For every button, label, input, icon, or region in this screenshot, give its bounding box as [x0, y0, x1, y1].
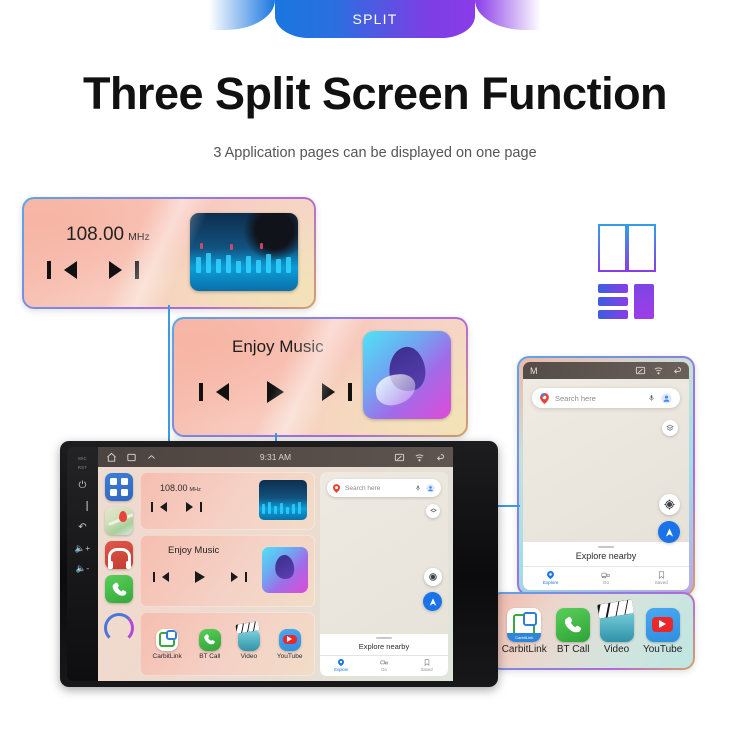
nav-label-saved: Saved [421, 667, 433, 672]
app-label-bt-call: BT Call [199, 653, 220, 660]
skip-previous-icon[interactable] [160, 502, 167, 512]
navigate-icon[interactable] [423, 592, 442, 611]
music-controls [216, 381, 335, 403]
radio-thumbnail-image [190, 213, 298, 291]
pane-explore-nearby-title[interactable]: Explore nearby [320, 642, 448, 655]
chevron-up-icon[interactable] [146, 452, 157, 463]
microphone-icon[interactable] [415, 484, 421, 492]
map-pin-icon [547, 571, 554, 579]
recents-icon[interactable] [126, 452, 137, 463]
map-callout-card: M Search here [517, 356, 695, 596]
nav-label-go: Go [603, 580, 609, 585]
skip-next-icon[interactable] [322, 383, 335, 401]
pane-map-bottom-nav: Explore Go Saved [320, 655, 448, 677]
radio-frequency-value: 108.00 [66, 224, 124, 245]
carbitlink-icon: CarbitLink [507, 608, 541, 642]
home-icon[interactable]: ⎹ [78, 502, 88, 512]
nav-item-go[interactable]: Go [363, 659, 406, 673]
radio-frequency: 108.00MHz [66, 224, 150, 246]
nav-label-saved: Saved [655, 580, 668, 585]
phone-icon [199, 629, 221, 651]
locate-me-icon[interactable] [659, 494, 680, 515]
home-icon[interactable] [106, 452, 117, 463]
locate-me-icon[interactable] [424, 568, 442, 586]
pane-map-bottom-sheet: Explore nearby Explore Go [320, 634, 448, 676]
wifi-icon[interactable] [414, 452, 425, 463]
maps-pin-icon [540, 393, 549, 404]
navigate-icon[interactable] [658, 521, 680, 543]
pane-music-album-art [262, 547, 308, 593]
headphones-icon [108, 548, 131, 562]
back-icon[interactable] [671, 365, 682, 376]
skip-previous-icon[interactable] [162, 572, 169, 582]
carbitlink-icon [156, 629, 178, 651]
pane-music[interactable]: Enjoy Music [140, 535, 315, 607]
back-icon[interactable]: ↶ [78, 523, 86, 533]
two-pane-layout-icon [598, 224, 654, 270]
bookmark-icon [424, 659, 430, 666]
split-banner: SPLIT [275, 0, 475, 38]
radio-callout-card: 108.00MHz [22, 197, 316, 309]
app-carbitlink[interactable]: CarbitLink [153, 629, 182, 660]
map-app-screen: M Search here [523, 362, 689, 590]
skip-previous-icon[interactable] [64, 261, 77, 279]
account-avatar-icon[interactable] [426, 484, 435, 493]
microphone-icon[interactable] [648, 393, 655, 403]
app-label-youtube: YouTube [643, 644, 682, 655]
map-search-placeholder: Search here [555, 394, 642, 403]
pane-map-canvas[interactable]: Search here [320, 472, 448, 634]
app-label-video: Video [604, 644, 629, 655]
mic-label: MIC [78, 456, 87, 461]
sheet-grab-handle[interactable] [598, 546, 614, 548]
bookmark-icon [658, 571, 665, 579]
music-callout-card: Enjoy Music [172, 317, 468, 437]
layers-icon[interactable] [426, 504, 440, 518]
back-icon[interactable] [434, 452, 445, 463]
skip-next-icon[interactable] [231, 572, 238, 582]
pane-map[interactable]: Search here [320, 472, 448, 676]
nav-item-saved[interactable]: Saved [405, 659, 448, 673]
app-youtube[interactable]: YouTube [643, 608, 682, 655]
reset-label: RST [78, 465, 87, 470]
maps-pin-icon [333, 484, 340, 493]
skip-next-icon[interactable] [109, 261, 122, 279]
sidebar-item-apps[interactable] [105, 473, 133, 501]
power-icon[interactable]: ⏻ [79, 481, 87, 491]
youtube-icon [279, 629, 301, 651]
map-search-bar[interactable]: Search here [532, 388, 680, 408]
pane-radio-controls [160, 502, 193, 512]
app-video[interactable]: Video [600, 608, 634, 655]
page-root: SPLIT Three Split Screen Function 3 Appl… [0, 0, 750, 750]
play-icon[interactable] [195, 571, 205, 583]
map-bottom-nav: Explore Go Saved [523, 566, 689, 591]
pane-music-controls [162, 571, 238, 583]
wifi-icon[interactable] [653, 365, 664, 376]
app-label-carbitlink: CarbitLink [153, 653, 182, 660]
nav-item-saved[interactable]: Saved [634, 571, 689, 586]
carbitlink-tag: CarbitLink [507, 633, 541, 642]
phone-icon [111, 581, 128, 598]
pane-radio-frequency: 108.00MHz [160, 483, 201, 493]
layout-indicator-group [598, 224, 658, 324]
video-clapperboard-icon [238, 629, 260, 651]
play-icon[interactable] [267, 381, 284, 403]
radio-frequency-unit: MHz [128, 231, 150, 243]
app-video[interactable]: Video [238, 629, 260, 660]
nav-label-go: Go [381, 667, 387, 672]
nav-item-go[interactable]: Go [578, 571, 633, 586]
music-title: Enjoy Music [232, 337, 324, 357]
screen-status-bar: 9:31 AM [98, 447, 453, 467]
map-bottom-sheet: Explore nearby Explore Go Saved [523, 542, 689, 590]
commute-icon [601, 571, 610, 579]
apps-grid-icon [110, 478, 128, 496]
video-clapperboard-icon [600, 608, 634, 642]
volume-up-icon[interactable]: 🔈+ [75, 544, 91, 553]
loading-spinner-icon [104, 613, 134, 643]
banner-wing-left [209, 0, 275, 30]
pane-radio-unit: MHz [190, 487, 201, 493]
commute-icon [380, 659, 388, 666]
app-carbitlink[interactable]: CarbitLink CarbitLink [502, 608, 547, 655]
app-label-video: Video [241, 653, 258, 660]
pane-dock: CarbitLink BT Call [140, 612, 315, 676]
sidebar-item-maps[interactable] [105, 507, 133, 535]
app-bt-call[interactable]: BT Call [556, 608, 590, 655]
sidebar-item-music[interactable] [105, 541, 133, 569]
pane-radio[interactable]: 108.00MHz [140, 472, 315, 530]
dock-callout-card: CarbitLink CarbitLink BT Call Video [489, 592, 695, 670]
pane-music-title: Enjoy Music [168, 545, 219, 556]
three-split-layout-icon [598, 284, 654, 324]
app-label-carbitlink: CarbitLink [502, 644, 547, 655]
skip-next-icon[interactable] [186, 502, 193, 512]
nav-item-explore[interactable]: Explore [523, 571, 578, 586]
page-title: Three Split Screen Function [0, 68, 750, 120]
app-bt-call[interactable]: BT Call [199, 629, 221, 660]
map-app-letter: M [530, 366, 538, 376]
screen-sidebar [98, 467, 140, 681]
pane-radio-thumbnail [259, 480, 307, 520]
account-avatar-icon[interactable] [661, 393, 672, 404]
album-art-image [363, 331, 451, 419]
cast-icon[interactable] [635, 365, 646, 376]
pane-radio-value: 108.00 [160, 483, 188, 493]
youtube-icon [646, 608, 680, 642]
map-pin-icon [338, 659, 344, 666]
head-unit-device: MIC RST ⏻ ⎹ ↶ 🔈+ 🔈- 9:31 AM [60, 441, 498, 687]
pane-map-search-bar[interactable]: Search here [327, 479, 441, 497]
app-label-youtube: YouTube [277, 653, 303, 660]
page-subtitle: 3 Application pages can be displayed on … [0, 145, 750, 161]
nav-label-explore: Explore [334, 667, 348, 672]
split-screen-panes: 108.00MHz [140, 467, 453, 681]
phone-icon [556, 608, 590, 642]
nav-label-explore: Explore [543, 580, 559, 585]
skip-previous-icon[interactable] [216, 383, 229, 401]
head-unit-screen[interactable]: 9:31 AM [98, 447, 453, 681]
radio-controls [64, 261, 122, 279]
app-youtube[interactable]: YouTube [277, 629, 303, 660]
app-label-bt-call: BT Call [557, 644, 590, 655]
cast-icon[interactable] [394, 452, 405, 463]
banner-label: SPLIT [353, 11, 398, 27]
hardware-button-rail: MIC RST ⏻ ⎹ ↶ 🔈+ 🔈- [67, 447, 98, 681]
pane-map-search-placeholder: Search here [345, 485, 410, 492]
sidebar-item-phone[interactable] [105, 575, 133, 603]
nav-item-explore[interactable]: Explore [320, 659, 363, 673]
layers-icon[interactable] [662, 420, 678, 436]
explore-nearby-title[interactable]: Explore nearby [523, 551, 689, 566]
banner-wing-right [475, 0, 541, 30]
volume-down-icon[interactable]: 🔈- [76, 564, 89, 573]
sheet-grab-handle[interactable] [376, 637, 392, 639]
map-status-bar: M [523, 362, 689, 379]
map-canvas[interactable]: Search here [523, 379, 689, 542]
